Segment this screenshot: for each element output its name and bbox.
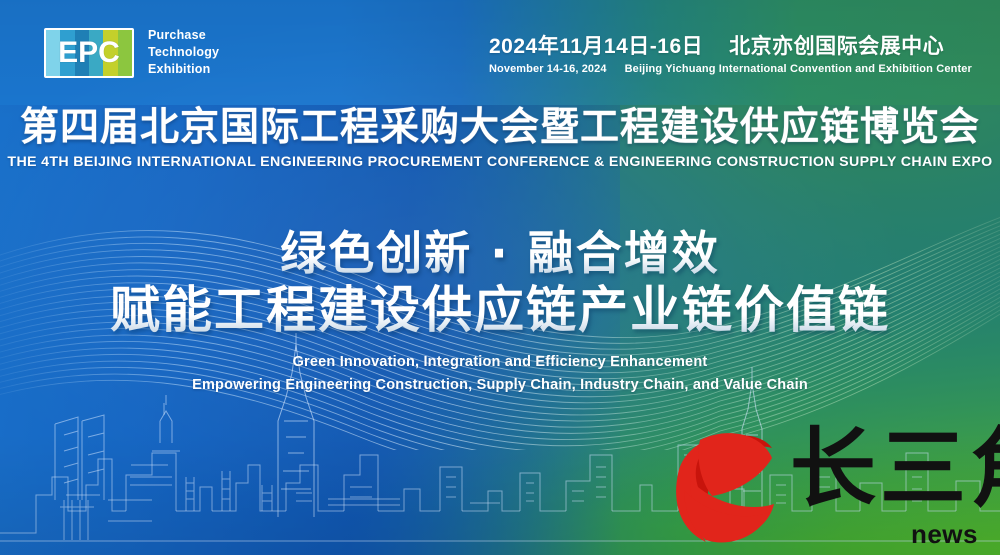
slogan-en-line1: Green Innovation, Integration and Effici… — [0, 351, 1000, 373]
epc-logo-letters: EPC — [46, 30, 132, 76]
slogan-en-block: Green Innovation, Integration and Effici… — [0, 351, 1000, 396]
brand-line-2: Technology — [148, 44, 219, 61]
slogan-block: 绿色创新 · 融合增效 赋能工程建设供应链产业链价值链 Green Innova… — [0, 226, 1000, 396]
main-title-en: THE 4TH BEIJING INTERNATIONAL ENGINEERIN… — [0, 154, 1000, 170]
event-date-en: November 14-16, 2024 — [489, 63, 607, 75]
main-title-block: 第四届北京国际工程采购大会暨工程建设供应链博览会 THE 4TH BEIJING… — [0, 106, 1000, 170]
event-venue-en: Beijing Yichuang International Conventio… — [625, 63, 972, 75]
main-title-cn: 第四届北京国际工程采购大会暨工程建设供应链博览会 — [0, 106, 1000, 150]
exhibition-banner: EPC Purchase Technology Exhibition 2024年… — [0, 0, 1000, 555]
banner-header: EPC Purchase Technology Exhibition 2024年… — [0, 0, 1000, 105]
brand-tagline: Purchase Technology Exhibition — [148, 27, 219, 79]
event-date-cn: 2024年11月14日-16日 — [489, 30, 703, 60]
slogan-en-line2: Empowering Engineering Construction, Sup… — [0, 374, 1000, 396]
brand-block: EPC Purchase Technology Exhibition — [44, 27, 219, 79]
slogan-cn-line1: 绿色创新 · 融合增效 — [0, 226, 1000, 280]
event-info-block: 2024年11月14日-16日 北京亦创国际会展中心 November 14-1… — [489, 30, 978, 75]
slogan-cn-line2: 赋能工程建设供应链产业链价值链 — [0, 282, 1000, 339]
brand-line-1: Purchase — [148, 27, 219, 44]
event-venue-cn: 北京亦创国际会展中心 — [729, 30, 944, 60]
brand-line-3: Exhibition — [148, 61, 219, 78]
epc-logo-icon: EPC — [44, 28, 134, 78]
